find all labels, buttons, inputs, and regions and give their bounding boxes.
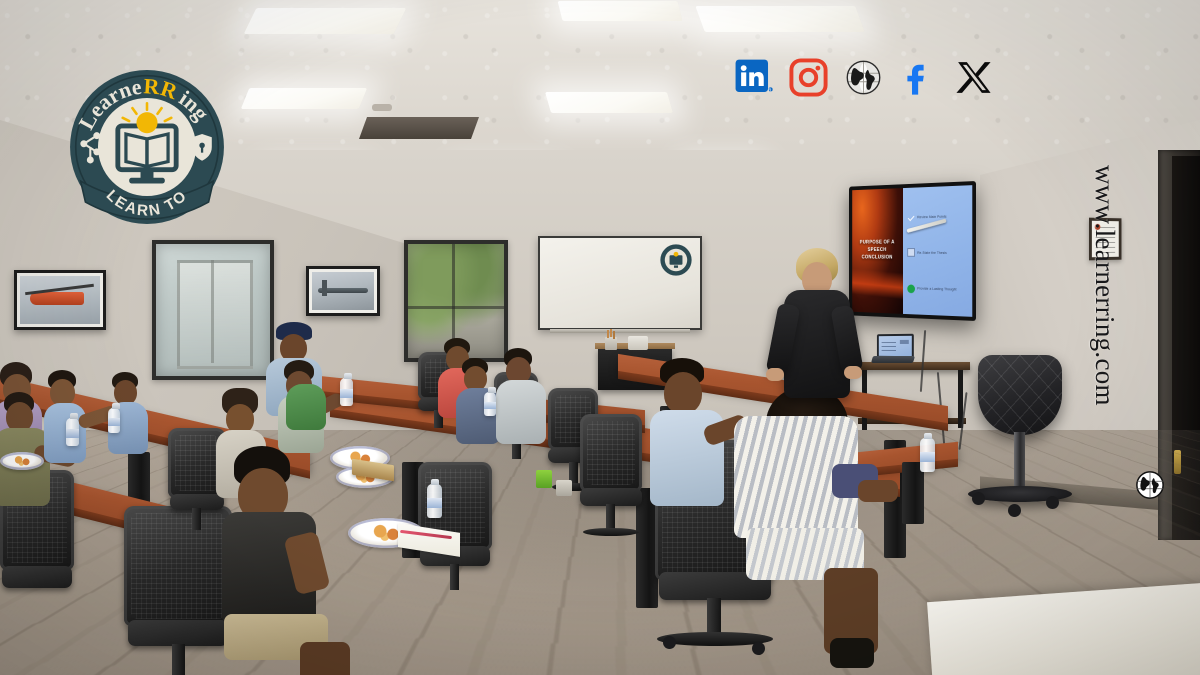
bottle-label bbox=[66, 429, 79, 437]
instagram-icon[interactable] bbox=[788, 57, 829, 98]
chair-post bbox=[172, 644, 185, 675]
pencil-cup bbox=[605, 337, 617, 350]
laptop-keyboard[interactable] bbox=[871, 356, 915, 363]
slide-bullet-panel: Review Main Points Re-State the Thesis P… bbox=[903, 185, 973, 317]
slide-title-panel: PURPOSE OF A SPEECH CONCLUSION bbox=[852, 188, 902, 314]
juice-box bbox=[556, 480, 572, 496]
water-bottle bbox=[484, 392, 496, 416]
chair-post bbox=[707, 598, 721, 636]
wall-mounted-tv: PURPOSE OF A SPEECH CONCLUSION Review Ma… bbox=[849, 181, 976, 321]
student-torso bbox=[496, 380, 546, 444]
chair-back bbox=[580, 414, 642, 492]
chair-mesh bbox=[175, 435, 219, 491]
classroom-photo: PURPOSE OF A SPEECH CONCLUSION Review Ma… bbox=[0, 0, 1200, 675]
presenter-hand bbox=[844, 366, 862, 379]
stool-gas-cylinder bbox=[1014, 432, 1025, 490]
ceiling-light-panel bbox=[545, 92, 673, 113]
framed-helicopter-photo bbox=[14, 270, 106, 330]
window-mullion bbox=[408, 306, 504, 309]
learnerring-logo: Learne RR ing LEARN TO LEAD bbox=[66, 66, 228, 228]
white-drape-fold bbox=[1125, 593, 1200, 675]
facebook-icon[interactable] bbox=[898, 57, 939, 98]
whiteboard bbox=[538, 236, 702, 330]
marker-tray bbox=[550, 329, 691, 333]
slide-bullet: Provide a Lasting Thought bbox=[907, 284, 969, 294]
student-leg bbox=[830, 638, 874, 668]
presentation-slide: PURPOSE OF A SPEECH CONCLUSION Review Ma… bbox=[852, 185, 972, 317]
water-bottle bbox=[920, 438, 935, 472]
door-panel[interactable] bbox=[1172, 156, 1200, 540]
student-torso bbox=[286, 384, 326, 430]
plate-rim bbox=[0, 452, 44, 470]
globe-watermark bbox=[1135, 470, 1165, 500]
ceiling-light-panel bbox=[244, 8, 407, 34]
document-icon bbox=[907, 249, 915, 258]
chair-base bbox=[583, 528, 639, 536]
water-bottle bbox=[427, 484, 442, 518]
slide-bullet: Re-State the Thesis bbox=[907, 248, 969, 257]
chair-seat bbox=[128, 620, 228, 646]
ceiling-light-panel bbox=[695, 6, 864, 32]
caster-wheel bbox=[663, 636, 676, 649]
linkedin-icon[interactable]: R bbox=[733, 57, 774, 98]
water-bottle bbox=[340, 378, 353, 406]
water-bottle bbox=[66, 418, 79, 446]
bottle-label bbox=[484, 402, 496, 409]
logo-seal: Learne RR ing LEARN TO LEAD bbox=[66, 66, 228, 228]
check-icon bbox=[907, 213, 915, 222]
framed-osprey-photo bbox=[306, 266, 380, 316]
student-torso bbox=[44, 403, 86, 463]
quilted-swivel-stool[interactable] bbox=[978, 355, 1062, 435]
caster-wheel bbox=[972, 492, 985, 505]
slide-title: PURPOSE OF A SPEECH CONCLUSION bbox=[852, 240, 902, 262]
x-twitter-icon[interactable] bbox=[953, 57, 994, 98]
ceiling-light-panel bbox=[241, 88, 367, 109]
chair-seat bbox=[2, 566, 72, 588]
green-dot-icon bbox=[907, 284, 915, 293]
bottle-label bbox=[340, 389, 353, 397]
caster-wheel bbox=[1008, 504, 1021, 517]
presenter-console-desk bbox=[852, 362, 970, 370]
learnerring-seal bbox=[659, 243, 693, 277]
slide-bullet-text: Provide a Lasting Thought bbox=[917, 287, 956, 292]
door-handle[interactable] bbox=[1174, 450, 1181, 474]
svg-text:R: R bbox=[768, 88, 771, 93]
bottle-label bbox=[920, 452, 935, 462]
bottle-label bbox=[427, 498, 442, 508]
caster-wheel bbox=[752, 642, 765, 655]
chair-post bbox=[192, 508, 201, 530]
website-url[interactable]: www.learnerring.com bbox=[1080, 165, 1120, 495]
chair-post bbox=[450, 564, 459, 590]
student-head bbox=[50, 379, 75, 406]
artwork-image bbox=[20, 276, 100, 324]
office-chair[interactable] bbox=[580, 414, 642, 544]
presenter-laptop[interactable] bbox=[877, 334, 914, 359]
globe-icon[interactable] bbox=[843, 57, 884, 98]
artwork-image bbox=[312, 272, 374, 310]
laptop-display bbox=[879, 336, 912, 356]
student-leg bbox=[300, 642, 350, 675]
student-arm bbox=[858, 480, 898, 502]
slide-bullet-text: Re-State the Thesis bbox=[917, 251, 947, 255]
chair-mesh bbox=[587, 421, 635, 485]
snack-plate bbox=[0, 452, 44, 470]
social-media-bar: R bbox=[733, 57, 994, 98]
smoke-detector bbox=[372, 104, 392, 111]
quilted-pattern bbox=[978, 355, 1062, 435]
caster-wheel bbox=[1046, 496, 1059, 509]
juice-box bbox=[536, 470, 552, 488]
tissue-box bbox=[628, 336, 648, 350]
ceiling-light-panel bbox=[558, 1, 683, 21]
student-head bbox=[664, 372, 702, 414]
interior-window bbox=[152, 240, 274, 380]
presenter-hand bbox=[766, 368, 784, 381]
water-bottle bbox=[108, 408, 120, 433]
ceiling-vent bbox=[359, 117, 479, 139]
bottle-label bbox=[108, 418, 120, 426]
